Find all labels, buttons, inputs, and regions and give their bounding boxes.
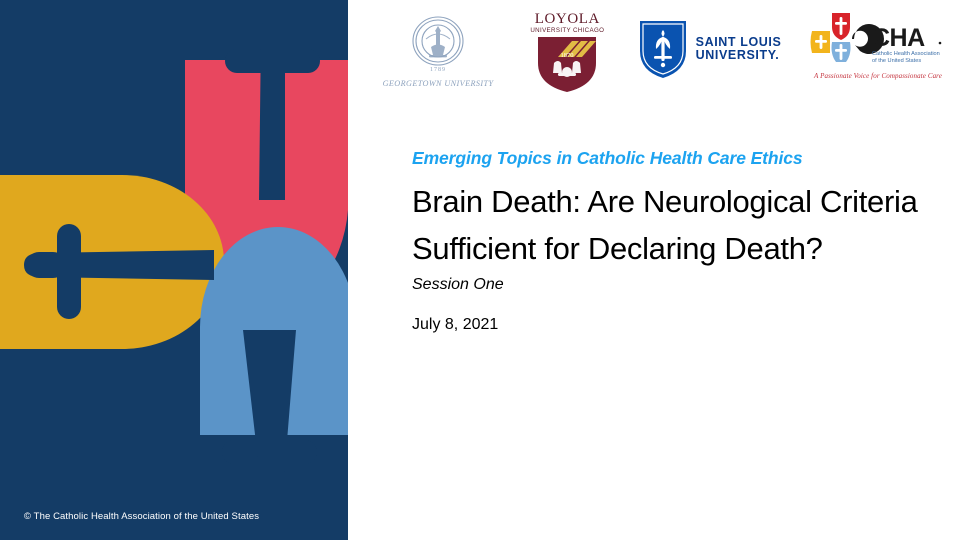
logo-georgetown: 1789 GEORGETOWN UNIVERSITY <box>378 8 498 88</box>
georgetown-wordmark: GEORGETOWN UNIVERSITY <box>383 79 494 88</box>
sponsor-logo-bar: 1789 GEORGETOWN UNIVERSITY LOYOLA UNIVER… <box>378 8 948 108</box>
svg-text:1789: 1789 <box>430 67 446 73</box>
loyola-crest-icon: 1870 <box>534 35 600 93</box>
logo-loyola: LOYOLA UNIVERSITY CHICAGO 1870 <box>519 8 615 93</box>
slu-line2: UNIVERSITY. <box>696 49 782 62</box>
loyola-seal-year: 1870 <box>561 52 574 59</box>
series-eyebrow: Emerging Topics in Catholic Health Care … <box>412 148 952 169</box>
slu-wordmark: SAINT LOUIS UNIVERSITY. <box>696 36 782 62</box>
abstract-crosses-graphic <box>0 0 348 540</box>
loyola-subtitle: UNIVERSITY CHICAGO <box>530 27 604 34</box>
logo-cha: CHA Catholic Health Association of the U… <box>808 8 948 80</box>
cha-tagline: A Passionate Voice for Compassionate Car… <box>814 72 942 80</box>
session-label: Session One <box>412 276 952 294</box>
presentation-date: July 8, 2021 <box>412 316 952 334</box>
cha-subtitle-line1: Catholic Health Association <box>872 51 940 57</box>
content-panel: 1789 GEORGETOWN UNIVERSITY LOYOLA UNIVER… <box>348 0 960 540</box>
presentation-title-slide: © The Catholic Health Association of the… <box>0 0 960 540</box>
logo-saint-louis-university: SAINT LOUIS UNIVERSITY. <box>637 8 787 80</box>
artwork-panel: © The Catholic Health Association of the… <box>0 0 348 540</box>
slu-fleur-de-lis-shield-icon <box>637 18 689 80</box>
georgetown-seal-icon: 1789 <box>407 14 469 76</box>
page-title: Brain Death: Are Neurological Criteria S… <box>412 178 932 272</box>
cha-cross-mark-icon: CHA Catholic Health Association of the U… <box>810 12 946 66</box>
loyola-name: LOYOLA <box>535 12 600 26</box>
copyright-notice: © The Catholic Health Association of the… <box>24 511 259 522</box>
cha-subtitle-line2: of the United States <box>872 58 921 64</box>
title-block: Emerging Topics in Catholic Health Care … <box>412 148 952 334</box>
cha-wordmark: CHA <box>872 24 925 52</box>
